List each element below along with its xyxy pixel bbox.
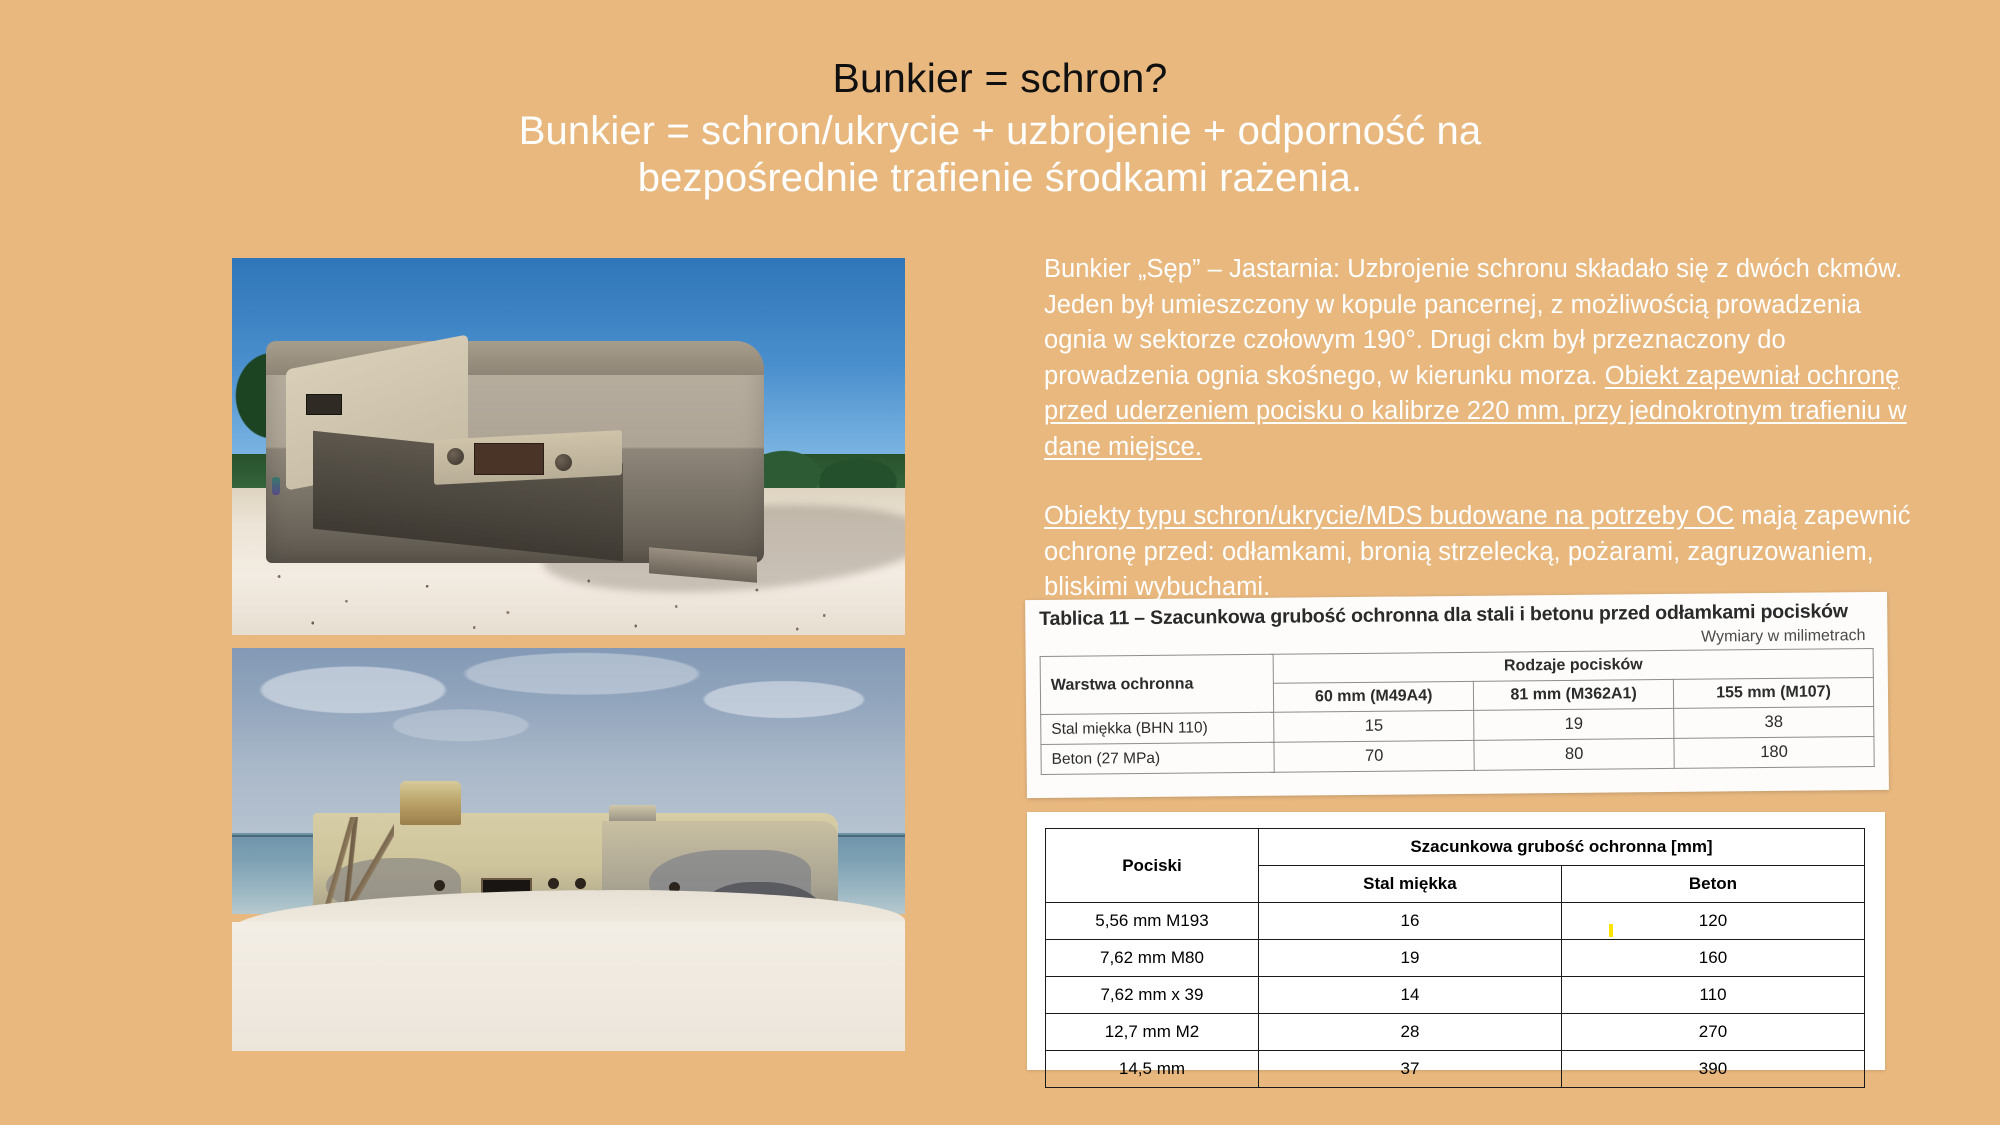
table-2-row-1-label: 7,62 mm M80 xyxy=(1046,940,1259,977)
ventilation-stack xyxy=(609,805,656,821)
table-2-row-3-label: 12,7 mm M2 xyxy=(1046,1014,1259,1051)
paragraph-1: Bunkier „Sęp” – Jastarnia: Uzbrojenie sc… xyxy=(1044,252,1914,465)
clouds-layer xyxy=(232,648,905,809)
table-row: 12,7 mm M2 28 270 xyxy=(1046,1014,1865,1051)
slide-root: { "slide": { "title": "Bunkier = schron?… xyxy=(0,0,2000,1125)
table-2-col-1: Stal miękka xyxy=(1258,866,1561,903)
loophole-2 xyxy=(548,878,559,889)
table-1-row-1-v1: 80 xyxy=(1474,738,1674,770)
table-row-header-top: Pociski Szacunkowa grubość ochronna [mm] xyxy=(1046,829,1865,866)
table-1-col-2: 81 mm (M362A1) xyxy=(1474,679,1674,710)
table-2-row-1-v1: 160 xyxy=(1561,940,1864,977)
table-1-row-1-v2: 180 xyxy=(1674,736,1874,768)
table-2-row-4-label: 14,5 mm xyxy=(1046,1051,1259,1088)
armoured-cupola xyxy=(400,781,461,825)
table-2-row-2-v0: 14 xyxy=(1258,977,1561,1014)
table-2-row-2-label: 7,62 mm x 39 xyxy=(1046,977,1259,1014)
table-1-col-3: 155 mm (M107) xyxy=(1673,678,1873,709)
table-2-row-header: Pociski xyxy=(1046,829,1259,903)
loophole-1 xyxy=(434,880,445,891)
table-2-row-3-v1: 270 xyxy=(1561,1014,1864,1051)
table-1-row-header: Warstwa ochronna xyxy=(1040,654,1274,714)
table-1-title: Tablica 11 – Szacunkowa grubość ochronna… xyxy=(1039,600,1873,631)
photo-bunker-half-buried-beach xyxy=(232,648,905,1051)
bunker-side-window xyxy=(306,394,342,415)
loophole-3 xyxy=(575,878,586,889)
table-1-row-0-label: Stal miękka (BHN 110) xyxy=(1041,712,1275,744)
table-1-row-0-v0: 15 xyxy=(1274,710,1474,742)
table-2-col-2: Beton xyxy=(1561,866,1864,903)
table-row: 7,62 mm x 39 14 110 xyxy=(1046,977,1865,1014)
table-2: Pociski Szacunkowa grubość ochronna [mm]… xyxy=(1045,828,1865,1088)
table-2-row-0-v1: 120 xyxy=(1561,903,1864,940)
table-1-row-1-label: Beton (27 MPa) xyxy=(1041,742,1275,774)
photo-bunker-sep-jastarnia-front xyxy=(232,258,905,635)
table-row: 14,5 mm 37 390 xyxy=(1046,1051,1865,1088)
table-2-row-0-label: 5,56 mm M193 xyxy=(1046,903,1259,940)
table-2-group-header: Szacunkowa grubość ochronna [mm] xyxy=(1258,829,1864,866)
page-subtitle-line-2: bezpośrednie trafienie środkami rażenia. xyxy=(300,155,1700,202)
page-title: Bunkier = schron? xyxy=(0,56,2000,102)
table-row: 5,56 mm M193 16 120 xyxy=(1046,903,1865,940)
table-2-card: Pociski Szacunkowa grubość ochronna [mm]… xyxy=(1027,812,1885,1070)
table-1-scanned-card: Tablica 11 – Szacunkowa grubość ochronna… xyxy=(1025,592,1889,798)
sand-foreground xyxy=(232,922,905,1051)
table-2-row-4-v1: 390 xyxy=(1561,1051,1864,1088)
table-2-row-4-v0: 37 xyxy=(1258,1051,1561,1088)
bunker-bolt-right xyxy=(555,454,572,471)
paragraph-2-underlined: Obiekty typu schron/ukrycie/MDS budowane… xyxy=(1044,502,1734,530)
table-2-row-0-v0: 16 xyxy=(1258,903,1561,940)
paragraph-2: Obiekty typu schron/ukrycie/MDS budowane… xyxy=(1044,499,1914,606)
table-1-row-0-v2: 38 xyxy=(1674,707,1874,739)
table-row: 7,62 mm M80 19 160 xyxy=(1046,940,1865,977)
table-2-row-3-v0: 28 xyxy=(1258,1014,1561,1051)
highlight-mark xyxy=(1609,924,1613,937)
body-text-block: Bunkier „Sęp” – Jastarnia: Uzbrojenie sc… xyxy=(1044,252,1914,606)
table-2-row-2-v1: 110 xyxy=(1561,977,1864,1014)
table-1-row-0-v1: 19 xyxy=(1474,708,1674,740)
paragraph-spacer xyxy=(1044,465,1914,499)
table-2-row-1-v0: 19 xyxy=(1258,940,1561,977)
bunker-firing-slot xyxy=(474,443,543,475)
person-figure xyxy=(272,477,280,495)
page-subtitle: Bunkier = schron/ukrycie + uzbrojenie + … xyxy=(300,108,1700,202)
page-subtitle-line-1: Bunkier = schron/ukrycie + uzbrojenie + … xyxy=(300,108,1700,155)
table-1-col-1: 60 mm (M49A4) xyxy=(1274,681,1474,712)
table-1-row-1-v0: 70 xyxy=(1274,740,1474,772)
table-1: Warstwa ochronna Rodzaje pocisków 60 mm … xyxy=(1040,648,1875,775)
sand-texture xyxy=(232,560,905,635)
